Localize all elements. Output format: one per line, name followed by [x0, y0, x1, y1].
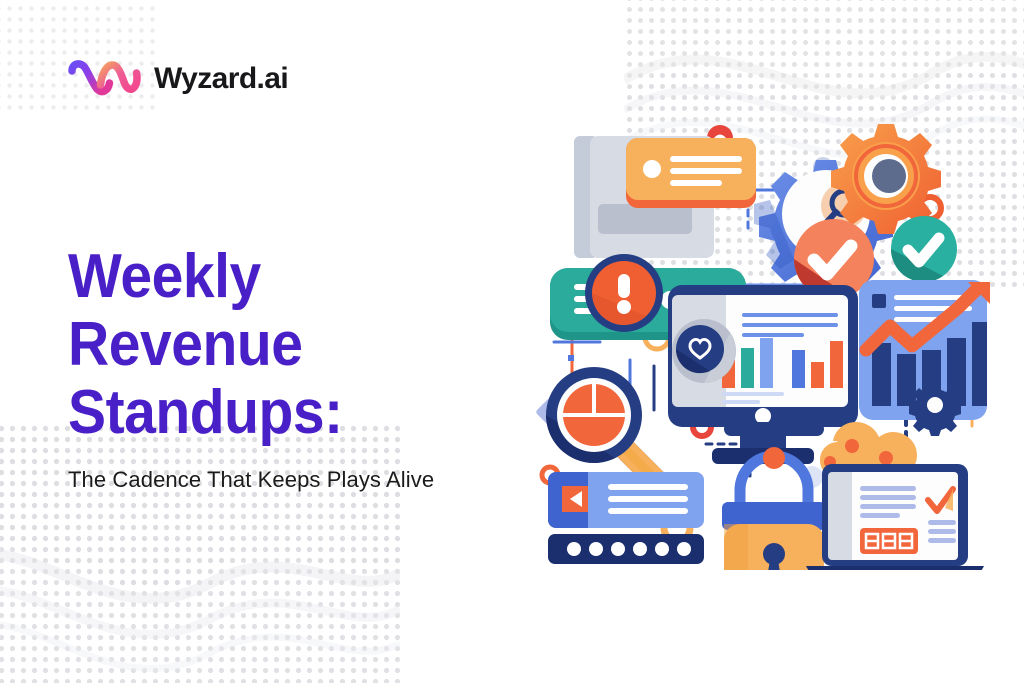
cloud-icon — [820, 422, 917, 470]
banner-canvas: Wyzard.ai Weekly Revenue Standups: The C… — [0, 0, 1024, 683]
brand-logo[interactable]: Wyzard.ai — [68, 55, 288, 103]
alert-circle-icon — [585, 254, 663, 332]
shield-heart-badge-icon — [672, 319, 736, 383]
orange-message-card-icon — [626, 138, 756, 208]
hero-illustration — [534, 110, 1004, 570]
server-document-stack-icon — [548, 472, 704, 570]
page-title: Weekly Revenue Standups: — [68, 243, 500, 448]
teal-check-circle-icon — [891, 216, 957, 282]
page-subtitle: The Cadence That Keeps Plays Alive — [68, 466, 538, 495]
brand-name: Wyzard.ai — [154, 64, 288, 94]
wyzard-wave-w-logo-icon — [68, 55, 142, 103]
hero-copy: Weekly Revenue Standups: The Cadence Tha… — [68, 243, 538, 494]
small-gear-icon — [909, 384, 961, 436]
laptop-document-icon — [806, 422, 984, 570]
